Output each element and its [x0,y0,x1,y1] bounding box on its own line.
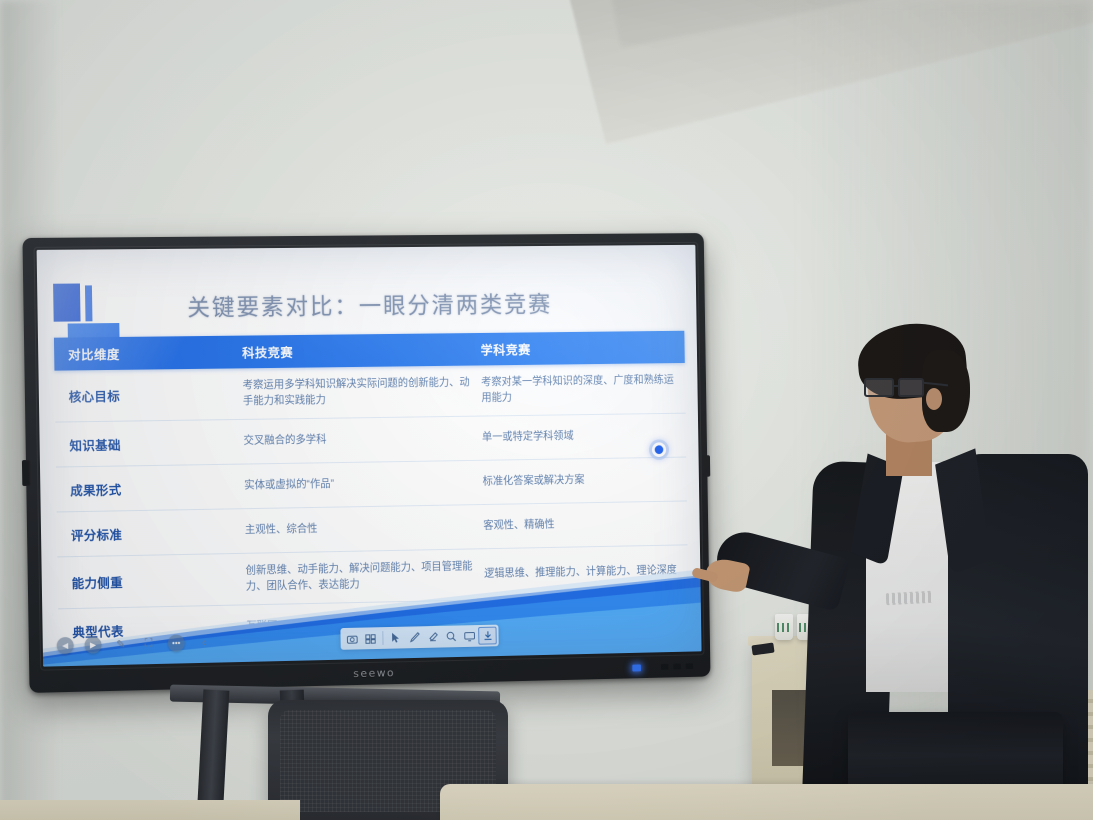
pen-icon[interactable] [405,628,424,646]
front-table [440,784,1093,820]
panel-side-button[interactable] [22,460,31,486]
touch-pointer-dot [652,442,667,457]
row-subject: 逻辑思维、推理能力、计算能力、理论深度 [484,563,688,582]
row-tech: 实体或虚拟的“作品” [244,475,483,494]
row-dimension: 能力侧重 [58,570,246,593]
tshirt-logo [886,591,933,605]
row-tech: 主观性、综合性 [245,519,484,539]
screenshot-button[interactable]: ⛶ [140,635,157,652]
left-toolbar[interactable]: ◀ ▶ ✎ ⛶ ••• ‹ [57,634,213,654]
play-button[interactable]: ▶ [84,636,101,653]
row-tech: 考察运用多学科知识解决实际问题的创新能力、动手能力和实践能力 [243,375,482,408]
screen-icon[interactable] [460,627,479,645]
glasses-icon [864,378,934,398]
classroom-photo: seewo 关键要素对比：一眼分清两类竞赛 对比维度 科技竞赛 学科竞赛 [0,0,1093,820]
row-dimension: 评分标准 [57,522,245,544]
pen-tool-button[interactable]: ✎ [112,636,129,653]
bezel-ports [661,663,693,670]
row-tech: 交叉融合的多学科 [243,431,482,450]
power-led [632,664,641,671]
row-tech: 创新思维、动手能力、解决问题能力、项目管理能力、团队合作、表达能力 [245,559,484,594]
panel-screen[interactable]: 关键要素对比：一眼分清两类竞赛 对比维度 科技竞赛 学科竞赛 核心目标 考察运用… [37,245,702,667]
cursor-icon[interactable] [386,629,405,647]
capture-icon[interactable] [342,630,361,648]
table-header-subject: 学科竞赛 [480,331,684,366]
row-dimension: 核心目标 [55,384,243,405]
grid-icon[interactable] [361,629,380,647]
table-header-tech: 科技竞赛 [242,333,481,368]
download-icon[interactable] [478,627,497,645]
more-options-button[interactable]: ••• [168,635,185,652]
row-dimension: 知识基础 [55,432,243,454]
row-subject: 客观性、精确性 [483,515,687,534]
back-button[interactable]: ‹ [195,634,212,651]
slide-canvas: 关键要素对比：一眼分清两类竞赛 对比维度 科技竞赛 学科竞赛 核心目标 考察运用… [37,245,702,667]
magnifier-icon[interactable] [441,627,460,645]
table-row: 核心目标 考察运用多学科知识解决实际问题的创新能力、动手能力和实践能力 考察对某… [54,363,685,423]
table-header-dimension: 对比维度 [54,336,242,371]
interactive-flat-panel[interactable]: seewo 关键要素对比：一眼分清两类竞赛 对比维度 科技竞赛 学科竞赛 [22,233,710,693]
center-floating-toolbar[interactable] [340,625,498,650]
row-subject: 数学竞赛、周培源力学竞赛、大英赛…… [485,610,689,630]
toolbar-separator [382,631,383,645]
eraser-icon[interactable] [423,628,442,646]
left-table [0,800,300,820]
panel-bezel: seewo 关键要素对比：一眼分清两类竞赛 对比维度 科技竞赛 学科竞赛 [22,233,710,693]
row-dimension: 成果形式 [56,477,244,499]
row-subject: 考察对某一学科知识的深度、广度和熟练运用能力 [481,373,685,406]
row-subject: 标准化答案或解决方案 [483,472,687,490]
slide-title: 关键要素对比：一眼分清两类竞赛 [37,284,696,324]
previous-slide-button[interactable]: ◀ [57,637,74,654]
comparison-table: 对比维度 科技竞赛 学科竞赛 核心目标 考察运用多学科知识解决实际问题的创新能力… [54,331,689,655]
